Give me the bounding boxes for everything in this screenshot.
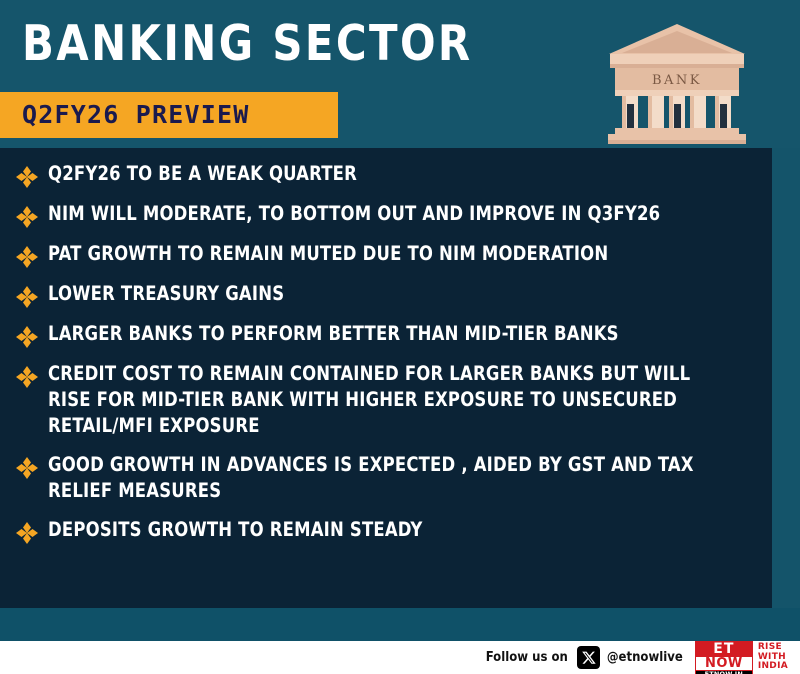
diamond-bullet-icon [16, 166, 38, 188]
bullet-text: GOOD GROWTH IN ADVANCES IS EXPECTED , AI… [48, 449, 721, 504]
tagline-line-3: INDIA [758, 662, 788, 672]
bullet-text: PAT GROWTH TO REMAIN MUTED DUE TO NIM MO… [48, 238, 721, 267]
etnow-logo-now: NOW [696, 657, 752, 670]
list-item: LARGER BANKS TO PERFORM BETTER THAN MID-… [0, 318, 764, 348]
bullet-text: DEPOSITS GROWTH TO REMAIN STEADY [48, 514, 721, 543]
page-title: BANKING SECTOR [22, 17, 473, 71]
bullet-text: LARGER BANKS TO PERFORM BETTER THAN MID-… [48, 318, 721, 347]
diamond-bullet-icon [16, 522, 38, 544]
list-item: LOWER TREASURY GAINS [0, 278, 764, 308]
list-item: NIM WILL MODERATE, TO BOTTOM OUT AND IMP… [0, 198, 764, 228]
bullet-panel: Q2FY26 TO BE A WEAK QUARTER NIM WILL MOD… [0, 148, 772, 608]
diamond-bullet-icon [16, 366, 38, 388]
list-item: GOOD GROWTH IN ADVANCES IS EXPECTED , AI… [0, 449, 764, 504]
bullet-text: CREDIT COST TO REMAIN CONTAINED FOR LARG… [48, 358, 721, 439]
diamond-bullet-icon [16, 326, 38, 348]
list-item: Q2FY26 TO BE A WEAK QUARTER [0, 158, 764, 188]
teal-divider-strip [0, 608, 800, 641]
footer-bar: Follow us on @etnowlive ET NOW ETNOW.IN … [0, 641, 800, 674]
preview-tag-band: Q2FY26 PREVIEW [0, 92, 338, 138]
infographic-poster: BANKING SECTOR Q2FY26 PREVIEW BANK [0, 0, 800, 674]
list-item: PAT GROWTH TO REMAIN MUTED DUE TO NIM MO… [0, 238, 764, 268]
bullet-text: LOWER TREASURY GAINS [48, 278, 721, 307]
etnow-logo-et: ET [696, 642, 752, 656]
diamond-bullet-icon [16, 206, 38, 228]
preview-tag-label: Q2FY26 PREVIEW [22, 101, 250, 129]
diamond-bullet-icon [16, 246, 38, 268]
bank-icon-text: BANK [652, 73, 702, 88]
follow-us-label: Follow us on [486, 650, 568, 665]
etnow-logo: ET NOW ETNOW.IN RISE WITH INDIA [695, 641, 794, 674]
bank-building-icon: BANK [604, 22, 750, 146]
etnow-tagline: RISE WITH INDIA [758, 641, 794, 674]
x-twitter-icon[interactable] [577, 646, 600, 669]
diamond-bullet-icon [16, 286, 38, 308]
diamond-bullet-icon [16, 457, 38, 479]
list-item: DEPOSITS GROWTH TO REMAIN STEADY [0, 514, 764, 544]
etnow-logo-mark: ET NOW ETNOW.IN [695, 641, 753, 674]
list-item: CREDIT COST TO REMAIN CONTAINED FOR LARG… [0, 358, 764, 439]
bullet-text: Q2FY26 TO BE A WEAK QUARTER [48, 158, 721, 187]
header-band: BANKING SECTOR Q2FY26 PREVIEW BANK [0, 0, 800, 148]
bullet-list: Q2FY26 TO BE A WEAK QUARTER NIM WILL MOD… [0, 158, 772, 554]
bullet-text: NIM WILL MODERATE, TO BOTTOM OUT AND IMP… [48, 198, 721, 227]
twitter-handle[interactable]: @etnowlive [607, 650, 683, 665]
